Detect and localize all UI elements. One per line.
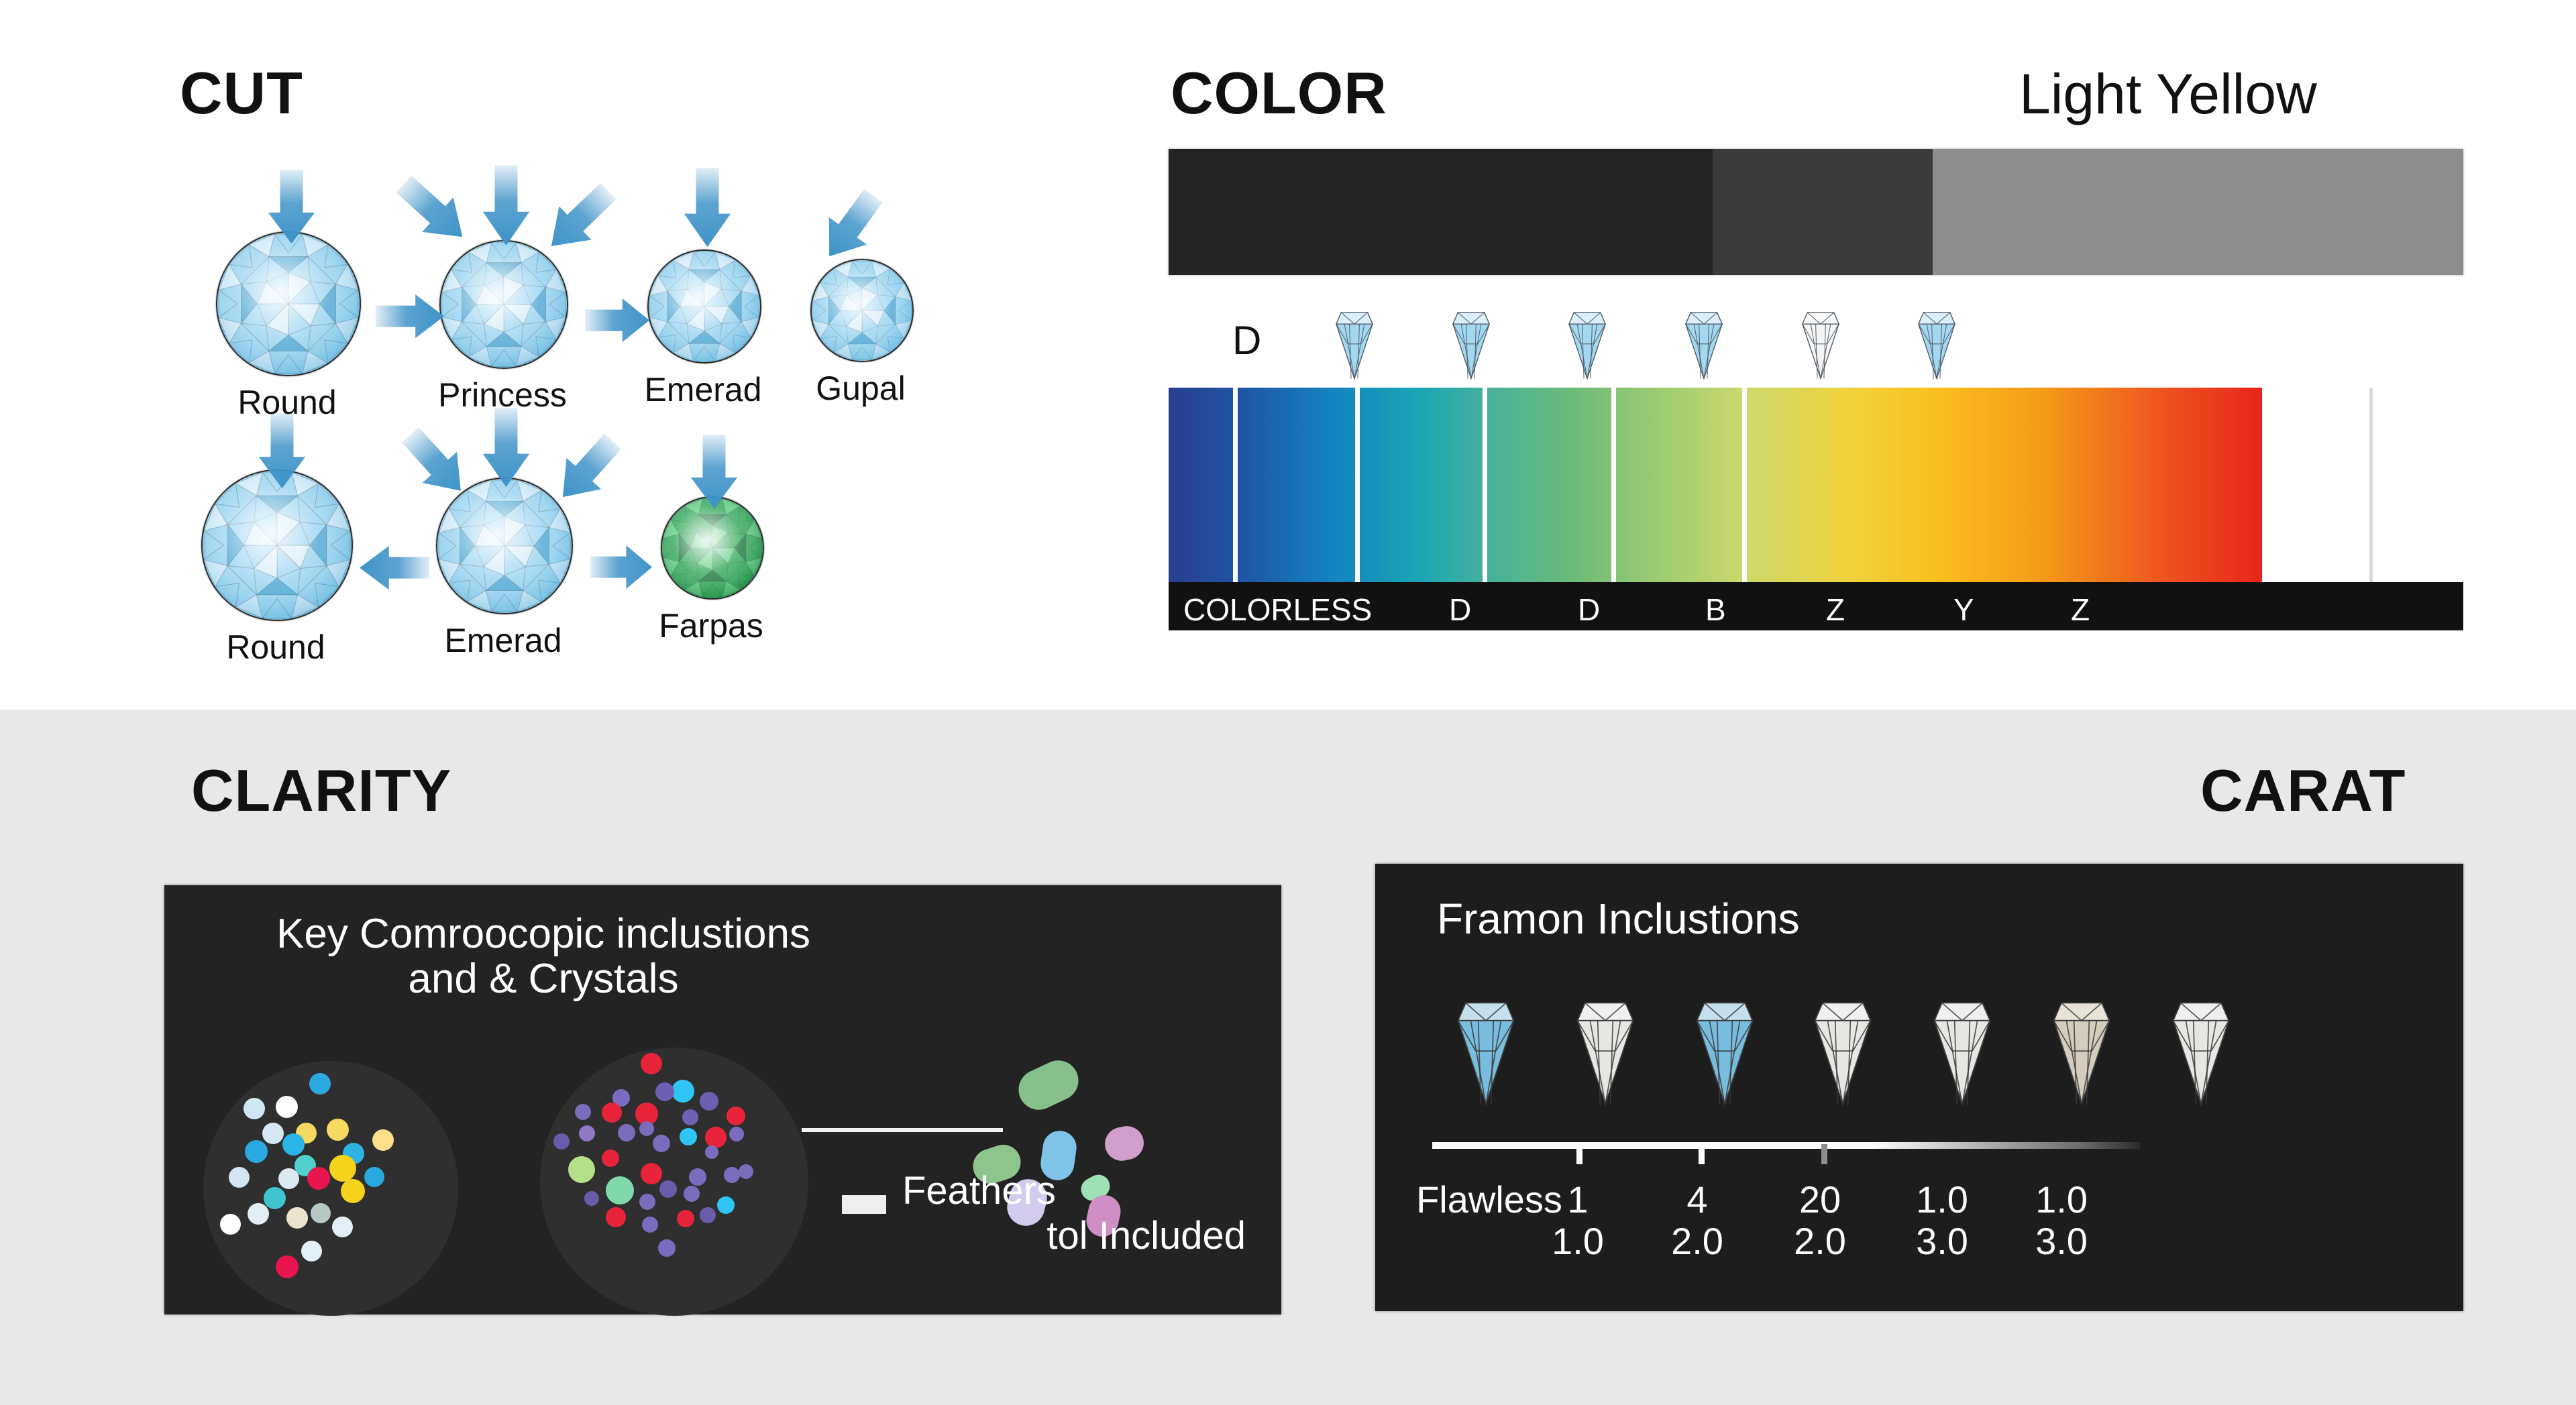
gem-row2-0	[201, 469, 353, 621]
spectrum-divider-4	[1742, 388, 1747, 582]
inclusion-dot	[220, 1214, 241, 1235]
grey-bar-segment-medium	[1713, 149, 1933, 275]
color-spectrum: D COLORLESSDDBZYZ	[1169, 388, 2463, 629]
inclusion-dot	[618, 1124, 635, 1141]
inclusion-dot	[329, 1155, 356, 1182]
inclusion-dot	[264, 1187, 286, 1209]
arrow-diag-princess-right	[533, 172, 625, 264]
inclusion-dot	[606, 1207, 626, 1227]
cut-label-row1-3: Gupal	[770, 372, 951, 405]
feather-capsule	[1102, 1123, 1146, 1164]
inclusion-dot	[372, 1129, 394, 1151]
inclusion-dot	[717, 1196, 735, 1214]
inclusion-dot	[575, 1104, 591, 1120]
spectrum-divider-1	[1355, 388, 1360, 582]
spectrum-marker-gem-0	[1330, 307, 1379, 382]
spectrum-label-1: D	[1449, 592, 1471, 628]
legend-line1: Feathers	[902, 1169, 1056, 1213]
inclusion-dot	[341, 1179, 365, 1203]
arrow-down-princess	[479, 165, 530, 245]
legend-leader-line	[802, 1128, 1003, 1132]
spectrum-label-0: COLORLESS	[1183, 592, 1372, 628]
carat-label-top: 1.0	[1916, 1178, 1968, 1221]
inclusion-dot	[655, 1082, 674, 1101]
arrow-down-emerad2	[479, 408, 530, 487]
carat-section-title: CARAT	[2200, 761, 2406, 820]
carat-axis-tick-2	[1821, 1144, 1827, 1164]
carat-gem-4	[1912, 995, 2012, 1109]
inclusion-dot	[739, 1164, 753, 1179]
spectrum-label-3: B	[1705, 592, 1726, 628]
inclusion-dot	[641, 1163, 662, 1184]
inclusion-dot	[689, 1168, 706, 1186]
carat-label-bottom: 3.0	[1885, 1221, 1999, 1262]
spectrum-marker-letter: D	[1232, 317, 1261, 363]
inclusion-dot	[602, 1149, 619, 1167]
spectrum-label-2: D	[1578, 592, 1600, 628]
inclusion-dot	[311, 1203, 331, 1223]
carat-label-top: 1.0	[2035, 1178, 2088, 1221]
carat-label-1: 11.0	[1524, 1179, 1631, 1261]
inclusion-dot	[606, 1176, 634, 1204]
carat-label-bottom: 3.0	[2004, 1221, 2118, 1262]
arrow-down-round1	[264, 170, 315, 243]
spectrum-label-strip: COLORLESSDDBZYZ	[1169, 582, 2463, 630]
spectrum-divider-tail	[2369, 388, 2373, 582]
carat-label-top: 1	[1567, 1178, 1588, 1221]
color-section-title: COLOR	[1171, 64, 1387, 123]
spectrum-marker-gem-5	[1912, 307, 1962, 382]
carat-gem-3	[1792, 995, 1893, 1109]
legend-line2: tol Included	[902, 1213, 1251, 1258]
arrow-diag-gupal	[807, 180, 893, 271]
cut-diagram: RoundPrincessEmeradGupalRoundEmeradFarpa…	[0, 0, 1140, 697]
carat-gem-6	[2151, 995, 2251, 1109]
light-yellow-label: Light Yellow	[2019, 62, 2317, 127]
carat-label-bottom: 2.0	[1644, 1221, 1751, 1262]
inclusion-dot	[276, 1096, 298, 1118]
spectrum-divider-0	[1233, 388, 1238, 582]
inclusion-dot	[672, 1080, 694, 1103]
inclusion-dot	[659, 1180, 677, 1198]
inclusion-dot	[658, 1239, 676, 1257]
spectrum-label-6: Z	[2071, 592, 2090, 628]
carat-label-bottom: 1.0	[1524, 1221, 1631, 1262]
inclusion-dot	[553, 1133, 570, 1149]
inclusion-dot	[244, 1098, 265, 1119]
spectrum-marker-gem-2	[1562, 307, 1612, 382]
inclusion-dot	[727, 1107, 745, 1125]
carat-label-3: 202.0	[1763, 1179, 1877, 1261]
gem-row2-1	[436, 477, 573, 614]
feathers-legend-swatch	[842, 1195, 886, 1214]
spectrum-divider-3	[1611, 388, 1616, 582]
arrow-down-round2	[255, 413, 306, 488]
inclusion-dot	[680, 1128, 697, 1145]
carat-panel-heading: Framon Inclustions	[1437, 894, 1800, 944]
inclusion-dot	[245, 1140, 268, 1163]
carat-label-top: 20	[1799, 1178, 1841, 1221]
inclusion-cluster-2	[540, 1048, 808, 1316]
arrow-right-round-to-princess	[376, 294, 444, 342]
inclusion-dot	[684, 1186, 700, 1202]
arrow-left-emerad-to-round	[360, 542, 429, 590]
inclusion-dot	[262, 1123, 284, 1144]
inclusion-dot	[724, 1167, 740, 1183]
grey-bar-segment-light	[1933, 149, 2463, 275]
clarity-section-title: CLARITY	[191, 761, 451, 820]
inclusion-dot	[700, 1092, 718, 1111]
inclusion-dot	[642, 1217, 658, 1233]
arrow-diag-princess-left	[385, 166, 478, 258]
gem-row1-3	[810, 259, 914, 362]
arrow-down-farpas	[687, 435, 738, 508]
feather-capsule	[1012, 1054, 1085, 1116]
inclusion-dot	[332, 1217, 353, 1237]
carat-axis-tick-0	[1576, 1144, 1582, 1164]
carat-label-top: 4	[1686, 1178, 1707, 1221]
carat-label-bottom: 2.0	[1763, 1221, 1877, 1262]
spectrum-gradient: D	[1169, 388, 2262, 582]
clarity-panel-heading: Key Comroocopic inclustions and & Crysta…	[164, 912, 922, 1002]
inclusion-dot	[282, 1133, 305, 1156]
inclusion-dot	[677, 1210, 694, 1227]
inclusion-dot	[301, 1241, 322, 1261]
grey-bar-segment-dark	[1169, 149, 1713, 275]
arrow-right-princess-to-emerad	[585, 298, 649, 346]
spectrum-label-4: Z	[1826, 592, 1845, 628]
inclusion-dot	[307, 1167, 330, 1190]
clarity-heading-line2: and & Crystals	[408, 956, 678, 1002]
inclusion-dot	[700, 1207, 716, 1223]
inclusion-dot	[327, 1119, 349, 1141]
cut-label-row1-1: Princess	[399, 378, 606, 412]
inclusion-dot	[286, 1207, 308, 1229]
spectrum-marker-gem-1	[1446, 307, 1496, 382]
inclusion-dot	[602, 1103, 622, 1123]
inclusion-dot	[584, 1191, 599, 1206]
spectrum-label-5: Y	[1953, 592, 1974, 628]
inclusion-dot	[579, 1125, 595, 1141]
carat-axis-tick-1	[1699, 1144, 1705, 1164]
arrow-right-emerad-to-farpas	[590, 545, 652, 593]
carat-gem-1	[1555, 995, 1656, 1109]
carat-label-4: 1.03.0	[1885, 1179, 1999, 1261]
inclusion-dot	[309, 1073, 331, 1094]
gem-row1-0	[216, 231, 361, 376]
color-grey-bar	[1169, 149, 2463, 275]
cut-label-row2-2: Farpas	[621, 609, 802, 642]
carat-gem-0	[1436, 995, 1536, 1109]
carat-axis-line	[1432, 1142, 2140, 1149]
inclusion-dot	[639, 1194, 655, 1210]
inclusion-dot	[705, 1127, 727, 1148]
arrow-down-emerad1	[680, 168, 731, 247]
inclusion-dot	[229, 1167, 250, 1188]
inclusion-dot	[568, 1156, 595, 1183]
inclusion-dot	[729, 1127, 744, 1141]
carat-panel: Framon Inclustions Flawless11.042.0202.0…	[1375, 864, 2463, 1311]
inclusion-dot	[641, 1053, 662, 1074]
gem-row1-1	[439, 240, 568, 369]
inclusion-dot	[278, 1168, 299, 1189]
inclusion-dot	[248, 1203, 269, 1225]
carat-label-2: 42.0	[1644, 1179, 1751, 1261]
inclusion-dot	[682, 1109, 698, 1125]
inclusion-dot	[653, 1135, 670, 1152]
spectrum-marker-gem-3	[1679, 307, 1729, 382]
gem-row2-2	[661, 496, 764, 600]
inclusion-dot	[364, 1167, 384, 1187]
inclusion-cluster-1	[203, 1061, 458, 1316]
cut-label-row2-1: Emerad	[396, 624, 610, 657]
carat-gem-5	[2031, 995, 2132, 1109]
cut-label-row2-0: Round	[161, 630, 390, 664]
gem-row1-2	[647, 249, 761, 363]
inclusion-dot	[639, 1121, 654, 1136]
carat-gem-2	[1674, 995, 1775, 1109]
carat-label-5: 1.03.0	[2004, 1179, 2118, 1261]
inclusion-dot	[705, 1145, 718, 1159]
spectrum-divider-2	[1483, 388, 1487, 582]
inclusion-dot	[276, 1255, 299, 1278]
spectrum-marker-gem-4	[1796, 307, 1845, 382]
arrow-diag-emerad2-right	[543, 423, 631, 513]
feathers-legend-label: Feathers tol Included	[902, 1168, 1251, 1259]
clarity-heading-line1: Key Comroocopic inclustions	[276, 911, 810, 957]
